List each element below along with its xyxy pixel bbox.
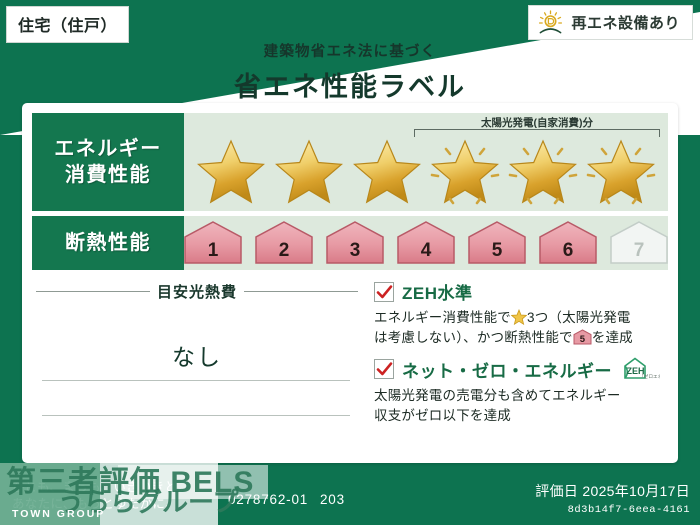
star-5-solar — [506, 135, 580, 205]
net-zero-checkbox[interactable] — [374, 359, 394, 379]
net-zero-desc-part-1: 太陽光発電の売電分も含めてエネルギー — [374, 388, 621, 403]
title-subtitle: 建築物省エネ法に基づく — [0, 40, 700, 61]
utility-cost-label: 目安光熱費 — [157, 281, 237, 302]
insulation-level-3: 3 — [324, 220, 386, 266]
energy-stars-area: 太陽光発電(自家消費)分 — [184, 113, 668, 211]
star-1 — [194, 135, 268, 205]
star-6-solar — [584, 135, 658, 205]
dwelling-type-tag: 住宅（住戸） — [6, 6, 129, 43]
zeh-desc-part-2: 3つ（太陽光発電 — [527, 310, 631, 325]
utility-cost-heading: 目安光熱費 — [32, 281, 362, 302]
zeh-house-logo-icon: ZEH 「ゼロエネ」 — [620, 356, 660, 382]
insulation-performance-label: 断熱性能 — [32, 216, 184, 270]
zeh-standard-checkbox[interactable] — [374, 282, 394, 302]
insulation-level-4: 4 — [395, 220, 457, 266]
zeh-desc-part-4: を達成 — [592, 330, 633, 345]
net-zero-title: ネット・ゼロ・エネルギー — [402, 357, 612, 382]
footer-evaluation-info: 評価日 2025年10月17日 8d3b14f7-6eea-4161 — [535, 481, 690, 516]
footer-document-number-2: 203 — [320, 492, 345, 507]
utility-cost-block: 目安光熱費 なし — [32, 277, 362, 452]
evaluation-date-label: 評価日 — [535, 483, 578, 499]
star-rating — [184, 135, 668, 205]
footer-tagline-line2: あなたに、もっとゆたかに。 — [12, 496, 190, 513]
energy-label-line1: エネルギー — [54, 136, 162, 162]
star-4-solar — [428, 135, 502, 205]
svg-text:「ゼロエネ」: 「ゼロエネ」 — [639, 373, 660, 380]
inline-house-icon: 5 — [573, 329, 592, 345]
insulation-level-7-number: 7 — [608, 240, 670, 262]
energy-label-line2: 消費性能 — [65, 162, 151, 188]
cost-divider-1 — [42, 380, 350, 381]
net-zero-description: 太陽光発電の売電分も含めてエネルギー 収支がゼロ以下を達成 — [374, 386, 668, 425]
title-block: 建築物省エネ法に基づく 省エネ性能ラベル — [0, 40, 700, 104]
svg-text:5: 5 — [580, 334, 586, 345]
insulation-level-1: 1 — [182, 220, 244, 266]
insulation-level-1-number: 1 — [182, 240, 244, 262]
zeh-standard-description: エネルギー消費性能で3つ（太陽光発電 は考慮しない）、かつ断熱性能で5を達成 — [374, 308, 668, 347]
footer-tagline: ひとも、まちも、いきいきと。 あなたに、もっとゆたかに。 — [12, 479, 190, 513]
evaluation-date-value: 2025年10月17日 — [582, 483, 690, 499]
net-zero-energy-item: ネット・ゼロ・エネルギー ZEH 「ゼロエネ」 太陽光発電の売電分も含めてエネル… — [374, 356, 668, 425]
zeh-standard-title: ZEH水準 — [402, 279, 473, 304]
insulation-level-7: 7 — [608, 220, 670, 266]
evaluation-id: 8d3b14f7-6eea-4161 — [535, 504, 690, 516]
zeh-desc-part-3: は考慮しない）、かつ断熱性能で — [374, 330, 573, 345]
footer-document-number: 0278762-01 — [228, 492, 308, 507]
insulation-level-5-number: 5 — [466, 240, 528, 262]
zeh-block: ZEH水準 エネルギー消費性能で3つ（太陽光発電 は考慮しない）、かつ断熱性能で… — [362, 277, 668, 452]
heading-rule-left — [36, 291, 150, 292]
insulation-level-6: 6 — [537, 220, 599, 266]
label-card: エネルギー 消費性能 太陽光発電(自家消費)分 — [22, 103, 678, 463]
evaluation-date: 評価日 2025年10月17日 — [535, 481, 690, 501]
zeh-standard-item: ZEH水準 エネルギー消費性能で3つ（太陽光発電 は考慮しない）、かつ断熱性能で… — [374, 279, 668, 347]
insulation-performance-row: 断熱性能 1 2 — [32, 216, 668, 270]
solar-bracket-label: 太陽光発電(自家消費)分 — [414, 115, 660, 130]
energy-performance-label: エネルギー 消費性能 — [32, 113, 184, 211]
utility-cost-value: なし — [32, 338, 362, 372]
footer-tagline-line1: ひとも、まちも、いきいきと。 — [12, 479, 190, 496]
zeh-desc-part-1: エネルギー消費性能で — [374, 310, 511, 325]
insulation-levels-area: 1 2 3 4 — [184, 216, 668, 270]
insulation-level-2-number: 2 — [253, 240, 315, 262]
heading-rule-right — [244, 291, 358, 292]
star-2 — [272, 135, 346, 205]
renewable-badge-label: 再エネ設備あり — [571, 12, 680, 33]
net-zero-heading: ネット・ゼロ・エネルギー ZEH 「ゼロエネ」 — [374, 356, 668, 382]
renewable-equipment-badge: 再エネ設備あり — [528, 5, 693, 40]
page-title: 省エネ性能ラベル — [0, 65, 700, 104]
insulation-level-4-number: 4 — [395, 240, 457, 262]
energy-performance-row: エネルギー 消費性能 太陽光発電(自家消費)分 — [32, 113, 668, 211]
net-zero-desc-part-2: 収支がゼロ以下を達成 — [374, 408, 511, 423]
cost-divider-2 — [42, 415, 350, 416]
sun-solar-icon — [537, 10, 564, 35]
insulation-level-5: 5 — [466, 220, 528, 266]
insulation-level-6-number: 6 — [537, 240, 599, 262]
zeh-standard-heading: ZEH水準 — [374, 279, 668, 304]
insulation-level-3-number: 3 — [324, 240, 386, 262]
insulation-level-2: 2 — [253, 220, 315, 266]
star-3 — [350, 135, 424, 205]
inline-star-icon — [511, 309, 527, 325]
card-bottom-area: 目安光熱費 なし ZEH水準 エネルギー消費性能で3つ（太陽光発電 — [32, 277, 668, 452]
insulation-level-list: 1 2 3 4 — [184, 220, 668, 266]
